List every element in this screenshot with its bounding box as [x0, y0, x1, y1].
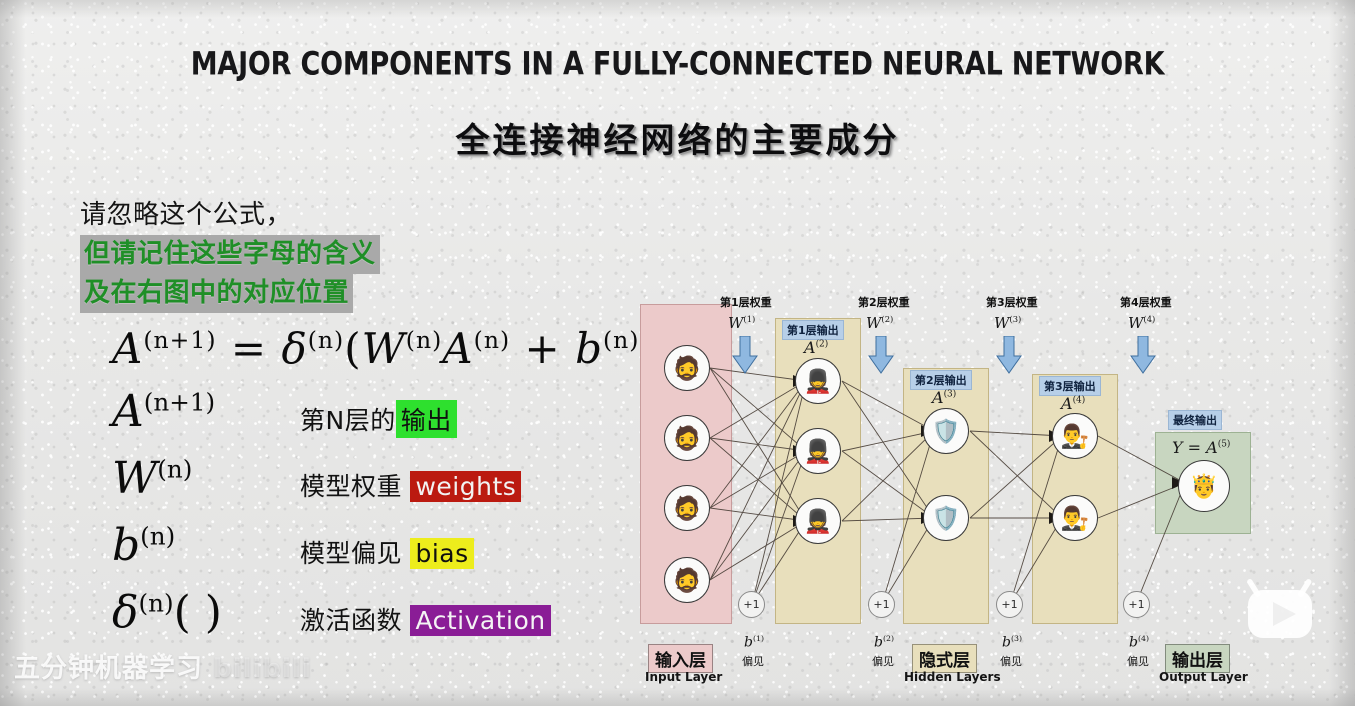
hidden-layer-3-node: 👨‍⚖️: [1052, 495, 1098, 541]
final-output-symbol-sup: (5): [1218, 440, 1231, 450]
weight-label-1-chinese: 第1层权重: [720, 294, 772, 310]
weight-label-2-chinese: 第2层权重: [858, 294, 910, 310]
legend-symbol-base: δ: [112, 587, 139, 638]
formula-lhs-base: A: [112, 324, 143, 373]
formula-a: A: [442, 324, 473, 373]
bias-node: +1: [1123, 591, 1150, 618]
output-layer-label-chinese: 输出层: [1165, 644, 1230, 673]
bias-node: +1: [996, 591, 1023, 618]
legend-symbol: A(n+1): [112, 386, 215, 437]
lead-line-3: 及在右图中的对应位置: [80, 274, 353, 313]
output-symbol-sup: (2): [816, 340, 829, 350]
legend-chip-bias: bias: [410, 538, 473, 569]
formula-b: b: [575, 324, 603, 373]
legend-symbol-sup: (n+1): [144, 387, 215, 416]
legend-description: 模型权重 weights: [300, 467, 521, 503]
final-output-label: 最终输出: [1168, 410, 1222, 430]
weight-symbol-1: W(1): [728, 314, 755, 332]
bias-symbol: b(3): [1002, 634, 1022, 651]
weight-symbol-sup: (4): [1143, 314, 1155, 324]
legend-symbol: W(n): [112, 453, 192, 504]
legend-symbol: b(n): [112, 520, 175, 571]
bias-symbol-base: b: [1129, 635, 1138, 651]
output-symbol-base: A: [804, 338, 816, 357]
legend-desc-prefix: 模型权重: [300, 472, 410, 501]
bias-symbol-sup: (1): [753, 634, 764, 643]
final-output-symbol: Y = A(5): [1172, 438, 1230, 457]
formula-equals: =: [231, 324, 267, 373]
layer-1-output-label: 第1层输出: [782, 320, 844, 340]
bias-label-chinese: 偏见: [1127, 653, 1149, 669]
layer-1-output-symbol: A(2): [804, 338, 828, 357]
input-node: 🧔: [664, 485, 710, 531]
symbol-legend: A(n+1) 第N层的输出 W(n) 模型权重 weights b(n) 模型偏…: [112, 386, 612, 654]
hidden-layer-1-node: 💂: [795, 498, 841, 544]
hidden-layer-1-node: 💂: [795, 428, 841, 474]
weight-symbol-2: W(2): [866, 314, 893, 332]
bias-symbol: b(4): [1129, 634, 1149, 651]
input-node: 🧔: [664, 345, 710, 391]
input-layer-label-english: Input Layer: [645, 670, 722, 684]
bias-label-chinese: 偏见: [742, 653, 764, 669]
hidden-layer-1-node: 💂: [795, 358, 841, 404]
hidden-layer-2-node: 🛡️: [923, 495, 969, 541]
bias-label-chinese: 偏见: [1000, 653, 1022, 669]
channel-watermark: 五分钟机器学习 bilibili: [14, 648, 312, 685]
legend-symbol-base: W: [112, 453, 157, 504]
legend-description: 激活函数 Activation: [300, 601, 551, 637]
legend-symbol-tail: ( ): [174, 587, 222, 638]
weight-symbol-base: W: [994, 314, 1009, 332]
legend-symbol-sup: (n): [157, 454, 192, 483]
weight-label-4-chinese: 第4层权重: [1120, 294, 1172, 310]
formula-delta-sup: (n): [308, 326, 345, 354]
weight-symbol-base: W: [728, 314, 743, 332]
bias-symbol-base: b: [874, 635, 883, 651]
lead-paragraph: 请忽略这个公式， 但请记住这些字母的含义 及在右图中的对应位置: [80, 196, 380, 313]
bias-node-value: +1: [743, 598, 759, 611]
neural-network-diagram: 🧔 🧔 🧔 🧔 💂 💂 💂 🛡️ 🛡️ 👨‍⚖️ 👨‍⚖️ 🤴 +1 +1 +1…: [620, 286, 1320, 696]
layer-3-output-symbol: A(4): [1061, 394, 1085, 413]
bias-symbol-sup: (4): [1138, 634, 1149, 643]
final-output-symbol-base: Y = A: [1172, 438, 1218, 457]
output-node: 🤴: [1178, 460, 1230, 512]
page-title-english: MAJOR COMPONENTS IN A FULLY-CONNECTED NE…: [0, 46, 1355, 83]
hidden-layer-2-node: 🛡️: [923, 408, 969, 454]
weight-arrow-3-icon: [996, 336, 1022, 374]
bias-node: +1: [868, 591, 895, 618]
formula-open-paren: (: [344, 324, 361, 373]
input-layer-label-chinese: 输入层: [648, 644, 713, 673]
weight-symbol-base: W: [1128, 314, 1143, 332]
output-symbol-base: A: [1061, 394, 1073, 413]
formula-lhs-sup: (n+1): [143, 326, 216, 354]
main-formula: A(n+1) = δ(n)(W(n)A(n) + b(n)): [112, 324, 657, 373]
legend-row: W(n) 模型权重 weights: [112, 453, 612, 520]
bias-symbol-sup: (2): [883, 634, 894, 643]
legend-symbol-base: b: [112, 520, 140, 571]
bias-node: +1: [738, 591, 765, 618]
legend-chip-weights: weights: [410, 471, 521, 502]
bias-symbol: b(2): [874, 634, 894, 651]
weight-symbol-4: W(4): [1128, 314, 1155, 332]
hidden-layer-label-chinese: 隐式层: [912, 644, 977, 673]
layer-3-output-label: 第3层输出: [1039, 376, 1101, 396]
hidden-layer-label-english: Hidden Layers: [904, 670, 1001, 684]
legend-symbol: δ(n)( ): [112, 587, 222, 638]
legend-desc-prefix: 激活函数: [300, 606, 410, 635]
output-layer-label-english: Output Layer: [1159, 670, 1248, 684]
formula-delta: δ: [281, 324, 307, 373]
legend-symbol-sup: (n): [140, 521, 175, 550]
legend-description: 模型偏见 bias: [300, 534, 474, 570]
weight-symbol-sup: (2): [881, 314, 893, 324]
layer-2-output-symbol: A(3): [932, 388, 956, 407]
output-symbol-base: A: [932, 388, 944, 407]
lead-line-1: 请忽略这个公式，: [80, 196, 380, 235]
bias-node-value: +1: [1001, 598, 1017, 611]
weight-symbol-sup: (3): [1009, 314, 1021, 324]
formula-a-sup: (n): [474, 326, 511, 354]
legend-desc-prefix: 模型偏见: [300, 539, 410, 568]
bilibili-tv-logo-icon: [1240, 572, 1320, 644]
legend-symbol-base: A: [112, 386, 144, 437]
weight-symbol-3: W(3): [994, 314, 1021, 332]
input-node: 🧔: [664, 557, 710, 603]
bias-symbol-base: b: [744, 635, 753, 651]
legend-desc-prefix: 第N层的: [300, 406, 396, 435]
weight-symbol-base: W: [866, 314, 881, 332]
legend-symbol-sup: (n): [139, 588, 174, 617]
output-symbol-sup: (4): [1073, 396, 1086, 406]
formula-plus: +: [525, 324, 561, 373]
legend-row: δ(n)( ) 激活函数 Activation: [112, 587, 612, 654]
weight-arrow-2-icon: [868, 336, 894, 374]
hidden-layer-3-node: 👨‍⚖️: [1052, 413, 1098, 459]
legend-chip-activation: Activation: [410, 605, 550, 636]
bias-node-value: +1: [873, 598, 889, 611]
weight-label-3-chinese: 第3层权重: [986, 294, 1038, 310]
weight-arrow-4-icon: [1130, 336, 1156, 374]
input-node: 🧔: [664, 415, 710, 461]
weight-symbol-sup: (1): [743, 314, 755, 324]
bias-symbol: b(1): [744, 634, 764, 651]
bias-label-chinese: 偏见: [872, 653, 894, 669]
page-title-chinese: 全连接神经网络的主要成分: [0, 113, 1355, 162]
legend-row: b(n) 模型偏见 bias: [112, 520, 612, 587]
formula-w-sup: (n): [406, 326, 443, 354]
bias-symbol-sup: (3): [1011, 634, 1022, 643]
legend-description: 第N层的输出: [300, 400, 457, 438]
formula-w: W: [362, 324, 406, 373]
lead-line-2: 但请记住这些字母的含义: [80, 235, 380, 274]
weight-arrow-1-icon: [732, 336, 758, 374]
channel-watermark-text: 五分钟机器学习: [14, 654, 203, 684]
channel-watermark-brand: bilibili: [213, 654, 312, 684]
layer-2-output-label: 第2层输出: [910, 370, 972, 390]
legend-chip-output: 输出: [396, 400, 457, 438]
output-symbol-sup: (3): [944, 390, 957, 400]
bias-symbol-base: b: [1002, 635, 1011, 651]
legend-row: A(n+1) 第N层的输出: [112, 386, 612, 453]
bias-node-value: +1: [1128, 598, 1144, 611]
